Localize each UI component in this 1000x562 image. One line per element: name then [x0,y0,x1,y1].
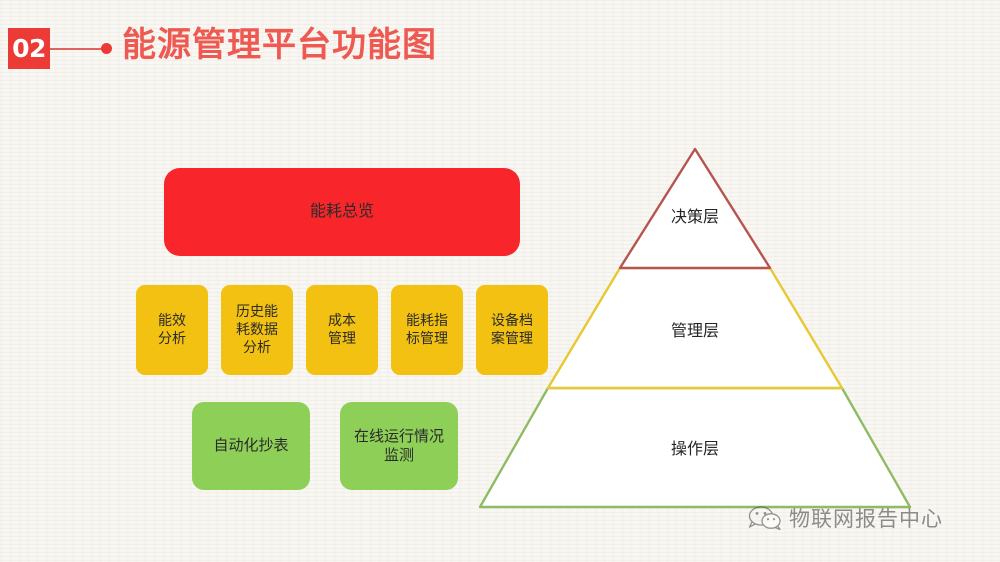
label-line-2: 分析 [158,330,186,346]
label-line-2: 标管理 [406,330,448,346]
function-box-online-operation-monitoring[interactable]: 在线运行情况监测 [340,402,458,490]
pyramid-layer-operation-label: 操作层 [671,440,719,458]
pyramid-layer-management-label: 管理层 [671,322,719,340]
label-line-1: 能效 [158,312,186,328]
pyramid-diagram: 决策层 管理层 操作层 [460,138,930,522]
function-box-label: 自动化抄表 [209,436,292,455]
function-box-label: 能效分析 [154,312,190,348]
function-box-energy-indicator-management[interactable]: 能耗指标管理 [391,285,463,375]
label-line-2: 管理 [328,330,356,346]
label-line-1: 历史能 [236,303,278,319]
page-title: 能源管理平台功能图 [122,24,437,66]
function-box-cost-management[interactable]: 成本管理 [306,285,378,375]
watermark-label: 物联网报告中心 [789,503,943,533]
label-line-2: 耗数据 [236,321,278,337]
pyramid-layer-decision-label: 决策层 [671,208,719,226]
header-bullet-dot [101,43,112,54]
function-box-overview-label: 能耗总览 [306,202,378,222]
function-box-historical-energy-data-analysis[interactable]: 历史能耗数据分析 [221,285,293,375]
label-line-1: 能耗指 [406,312,448,328]
function-box-energy-efficiency-analysis[interactable]: 能效分析 [136,285,208,375]
label-line-3: 分析 [243,339,271,355]
function-box-label: 成本管理 [324,312,360,348]
label-line-1: 成本 [328,312,356,328]
label-line-1: 在线运行情况 [354,428,444,445]
section-number-label: 02 [12,36,46,61]
function-box-label: 历史能耗数据分析 [232,303,282,357]
function-box-automatic-meter-reading[interactable]: 自动化抄表 [192,402,310,490]
section-number-badge: 02 [8,28,50,69]
slide-canvas: 02 能源管理平台功能图 能耗总览 能效分析 历史能耗数据分析 成本管理 能耗指… [0,0,1000,562]
function-box-label: 在线运行情况监测 [350,427,448,465]
label-line-2: 监测 [384,447,414,464]
header-connector-line [50,48,104,50]
wechat-icon [748,505,782,531]
function-box-label: 能耗指标管理 [402,312,452,348]
watermark: 物联网报告中心 [748,503,943,533]
